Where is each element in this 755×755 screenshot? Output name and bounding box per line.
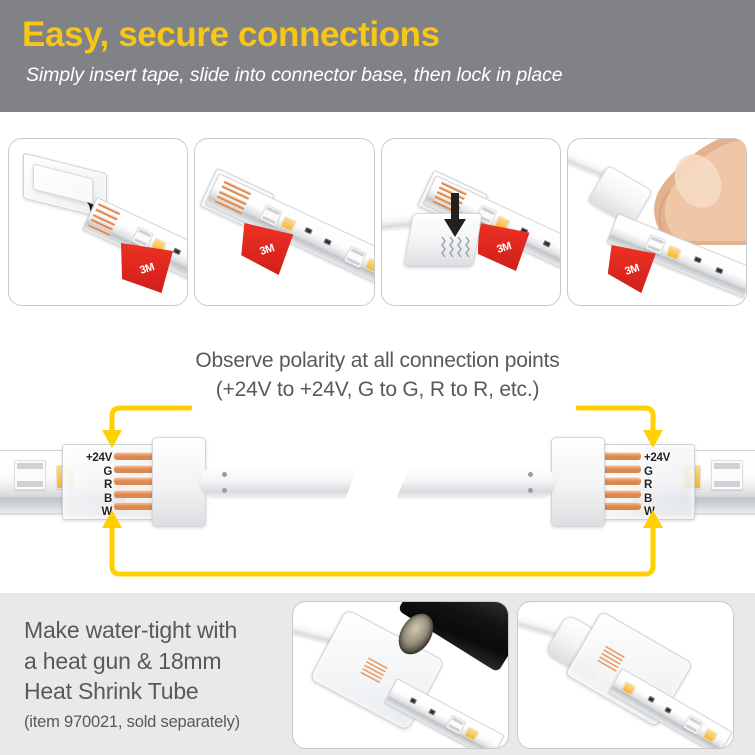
waterproofing-section: Make water-tight with a heat gun & 18mm … <box>0 593 755 755</box>
adhesive-tab-3m-icon: 3M <box>121 243 173 293</box>
arrow-up-left <box>102 510 122 528</box>
bottom-panel-result <box>517 601 734 749</box>
bottom-line-2: a heat gun & 18mm <box>24 646 282 677</box>
bottom-line-1: Make water-tight with <box>24 615 282 646</box>
step-1-illustration: 3M <box>9 139 187 305</box>
step-4-illustration: 3M <box>568 139 746 305</box>
black-arrow-down-icon <box>444 193 466 237</box>
step-2-illustration: 3M <box>195 139 373 305</box>
adhesive-label: 3M <box>495 240 512 256</box>
step-panel-row: 3M <box>0 112 755 320</box>
product-instruction-graphic: Easy, secure connections Simply insert t… <box>0 0 755 755</box>
step-panel-1: 3M <box>8 138 188 306</box>
arrow-up-right <box>643 510 663 528</box>
bottom-panel-heat-gun <box>292 601 509 749</box>
connector-pins-icon <box>438 235 478 261</box>
step-panel-4: 3M <box>567 138 747 306</box>
step-panel-3: 3M <box>381 138 561 306</box>
step-3-illustration: 3M <box>382 139 560 305</box>
header-banner: Easy, secure connections Simply insert t… <box>0 0 755 112</box>
adhesive-label: 3M <box>623 262 640 278</box>
arrow-down-left <box>102 430 122 448</box>
bottom-item-note: (item 970021, sold separately) <box>24 710 282 734</box>
led-tape-icon <box>384 678 505 748</box>
page-subtitle: Simply insert tape, slide into connector… <box>26 62 737 88</box>
polarity-bracket-arrows <box>0 320 755 593</box>
arrow-down-right <box>643 430 663 448</box>
step-panel-2: 3M <box>194 138 374 306</box>
polarity-diagram: Observe polarity at all connection point… <box>0 320 755 593</box>
adhesive-label: 3M <box>259 242 276 258</box>
bottom-line-3: Heat Shrink Tube <box>24 676 282 707</box>
waterproofing-instruction: Make water-tight with a heat gun & 18mm … <box>0 593 292 734</box>
page-title: Easy, secure connections <box>22 14 737 56</box>
adhesive-label: 3M <box>138 261 155 277</box>
